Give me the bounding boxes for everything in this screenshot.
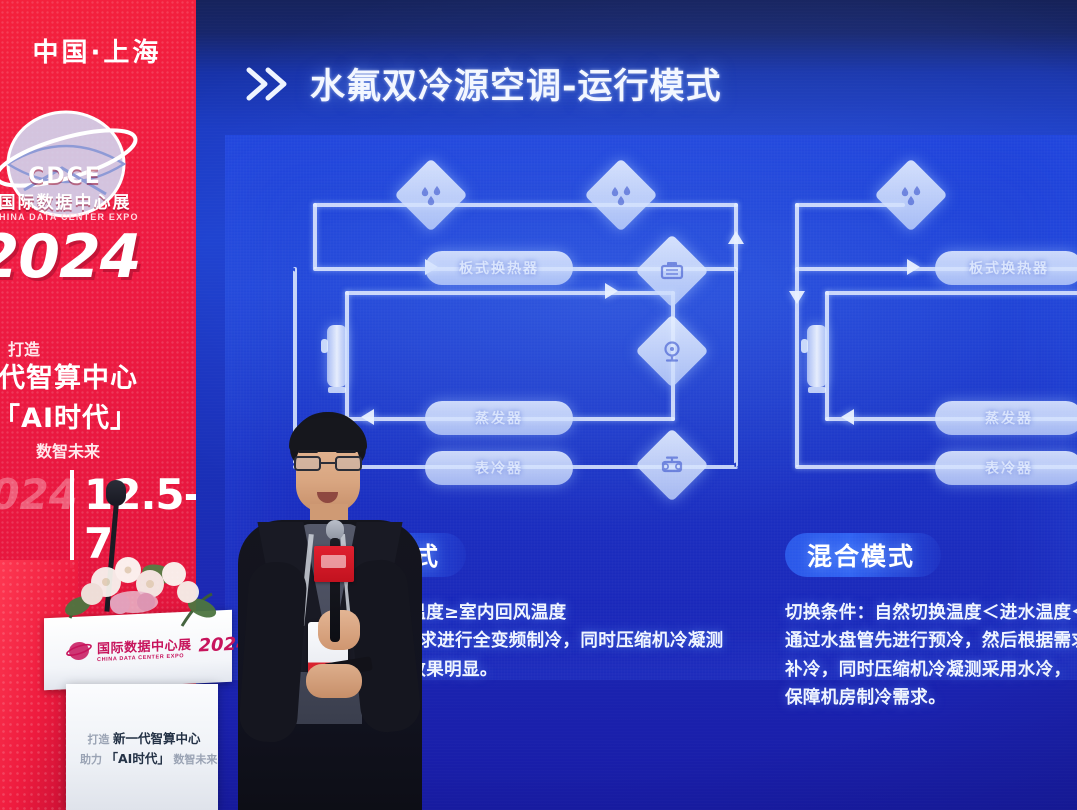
node-r-plate-heat-exchanger: 板式换热器: [935, 251, 1077, 285]
compressor-icon-1: [635, 234, 709, 308]
globe-network-icon-small: [66, 639, 92, 662]
dry-cooler-icon-r: [807, 325, 827, 387]
podium-line-2: 助力 「AI时代」 数智未来: [80, 748, 208, 767]
arrow-flow-2: [728, 231, 744, 244]
mode-body-mixed: 切换条件：自然切换温度＜进水温度＜室内回风温度 通过水盘管先进行预冷，然后根据需…: [785, 599, 1077, 712]
node-plate-heat-exchanger: 板式换热器: [425, 251, 573, 285]
podium-line2-strong: 「AI时代」: [106, 751, 170, 766]
pipe-dashed-right: [734, 267, 738, 467]
node-evaporator: 蒸发器: [425, 401, 573, 435]
double-chevron-right-icon: [246, 64, 292, 104]
banner-expo-cn: 国际数据中心展: [0, 188, 170, 213]
speaker-hair-front: [289, 418, 367, 452]
banner-year: 2024: [0, 222, 164, 292]
podium: 打造 新一代智算中心 助力 「AI时代」 数智未来 国际数据中心展 CHINA …: [44, 614, 232, 810]
slide-title: 水氟双冷源空调-运行模式: [246, 58, 722, 109]
speaker-brow-right: [336, 450, 356, 453]
podium-line2-suffix: 数智未来: [173, 753, 217, 766]
pump-icon-1: [635, 314, 709, 388]
mode-line: 通过水盘管先进行预冷，然后根据需求由DX压缩机进行: [785, 627, 1077, 655]
node-surface-cooler: 表冷器: [425, 451, 573, 485]
mic-head: [326, 520, 344, 540]
handheld-microphone-icon: [326, 520, 344, 642]
mic-flag-logo: [314, 546, 354, 582]
podium-line1-strong: 新一代智算中心: [113, 731, 201, 746]
screenshot-stage: 水氟双冷源空调-运行模式 板式换热器: [0, 0, 1077, 810]
arrow-r-flow-2: [789, 291, 805, 304]
cooling-tower-icon-3: [874, 158, 948, 232]
podium-line-1: 打造 新一代智算中心: [80, 728, 208, 747]
flower-arrangement: [62, 548, 218, 634]
node-r-evaporator: 蒸发器: [935, 401, 1077, 435]
banner-city-text: 中国·上海: [0, 32, 196, 69]
cooling-tower-icon-1: [394, 158, 468, 232]
diagram-mixed-mode: 板式换热器 蒸发器 表冷器: [785, 163, 1077, 493]
pipe-top: [313, 203, 738, 207]
pipe-r-inner-top: [825, 291, 1077, 295]
podium-line1-prefix: 打造: [87, 733, 109, 746]
eyeglasses-icon: [294, 456, 362, 471]
speaker-person: [232, 412, 428, 810]
mode-title-mixed: 混合模式: [785, 533, 941, 577]
slide-title-text: 水氟双冷源空调-运行模式: [310, 58, 722, 109]
arrow-flow-3: [605, 283, 618, 299]
mode-line: 切换条件：自然切换温度＜进水温度＜室内回风温度: [785, 599, 1077, 627]
banner-date-year: 2024: [0, 470, 78, 519]
node-r-surface-cooler: 表冷器: [935, 451, 1077, 485]
podium-body-panel: 打造 新一代智算中心 助力 「AI时代」 数智未来: [66, 684, 218, 810]
mode-block-mixed: 混合模式 切换条件：自然切换温度＜进水温度＜室内回风温度 通过水盘管先进行预冷，…: [785, 533, 1077, 712]
banner-tag-suffix: 数智未来: [0, 438, 100, 462]
arrow-r-flow-1: [907, 259, 920, 275]
pipe-inner-top: [345, 291, 675, 295]
cooling-tower-icon-2: [584, 158, 658, 232]
banner-tag-line1: 新一代智算中心: [0, 356, 138, 395]
mode-line: 补冷，同时压缩机冷凝测采用水冷，: [785, 656, 1077, 684]
podium-logo-texts: 国际数据中心展 CHINA DATA CENTER EXPO: [97, 633, 192, 662]
pipe-left-up: [313, 203, 317, 269]
valve-icon-1: [635, 428, 709, 502]
speaker-brow-left: [298, 450, 318, 453]
banner-tag-line2: 「AI时代」: [0, 396, 138, 435]
banner-expo-en: CHINA DATA CENTER EXPO: [0, 212, 170, 222]
pipe-r-left-up: [795, 203, 799, 269]
speaker-hand-lower: [306, 664, 362, 698]
banner-logo-text: CDCE: [0, 164, 170, 189]
podium-line2-prefix: 助力: [80, 753, 102, 766]
arrow-r-flow-3: [841, 409, 854, 425]
mode-line: 保障机房制冷需求。: [785, 684, 1077, 712]
dry-cooler-icon: [327, 325, 347, 387]
